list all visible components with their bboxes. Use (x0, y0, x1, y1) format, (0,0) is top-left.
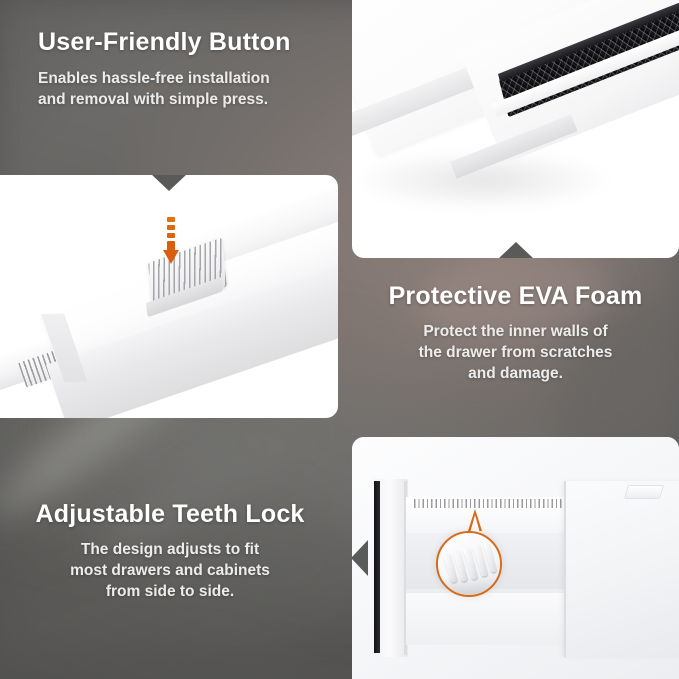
sliding-panel-edge-line (564, 481, 566, 657)
feature-body-line: from side to side. (10, 582, 330, 603)
photo-panel-teeth-lock (352, 437, 679, 679)
feature-body-adjustable-teeth-lock: The design adjusts to fit most drawers a… (10, 540, 330, 602)
panel-pointer-down (498, 242, 534, 258)
arrow-head (163, 250, 179, 264)
magnifier-base-shadow (438, 577, 500, 595)
panel-pointer-up (151, 175, 187, 191)
feature-body-line: most drawers and cabinets (10, 561, 330, 582)
feature-body-line: Enables hassle-free installation (38, 69, 328, 90)
text-block-protective-eva-foam: Protective EVA Foam Protect the inner wa… (352, 282, 679, 384)
arrow-dash-3 (167, 233, 175, 238)
photo-panel-button (0, 175, 338, 418)
photo-panel-eva-foam (352, 0, 679, 258)
divider-lower-band (406, 593, 566, 645)
feature-body-line: and removal with simple press. (38, 90, 328, 111)
feature-body-line: the drawer from scratches (352, 343, 679, 364)
sliding-panel-right (564, 481, 679, 657)
eva-foam-photo (352, 0, 679, 258)
text-block-user-friendly-button: User-Friendly Button Enables hassle-free… (38, 28, 328, 111)
teeth-rail-texture (414, 499, 566, 508)
panel-release-tab (624, 485, 664, 499)
feature-title-user-friendly-button: User-Friendly Button (38, 28, 328, 57)
teeth-rail (414, 499, 566, 508)
infographic-canvas: User-Friendly Button Enables hassle-free… (0, 0, 679, 679)
button-photo (0, 175, 338, 418)
feature-body-line: The design adjusts to fit (10, 540, 330, 561)
teeth-lock-photo (352, 437, 679, 679)
feature-title-protective-eva-foam: Protective EVA Foam (352, 282, 679, 311)
feature-title-adjustable-teeth-lock: Adjustable Teeth Lock (10, 500, 330, 529)
orange-down-arrow-icon (163, 217, 179, 265)
arrow-dash-2 (167, 225, 175, 230)
feature-body-user-friendly-button: Enables hassle-free installation and rem… (38, 69, 328, 111)
feature-body-line: Protect the inner walls of (352, 322, 679, 343)
feature-body-protective-eva-foam: Protect the inner walls of the drawer fr… (352, 322, 679, 384)
text-block-adjustable-teeth-lock: Adjustable Teeth Lock The design adjusts… (10, 500, 330, 602)
arrow-dash-1 (167, 217, 175, 222)
magnifier-circle (436, 531, 502, 597)
panel-pointer-left (352, 540, 368, 576)
feature-body-line: and damage. (352, 364, 679, 385)
eva-foam-edge-strip (374, 481, 380, 653)
